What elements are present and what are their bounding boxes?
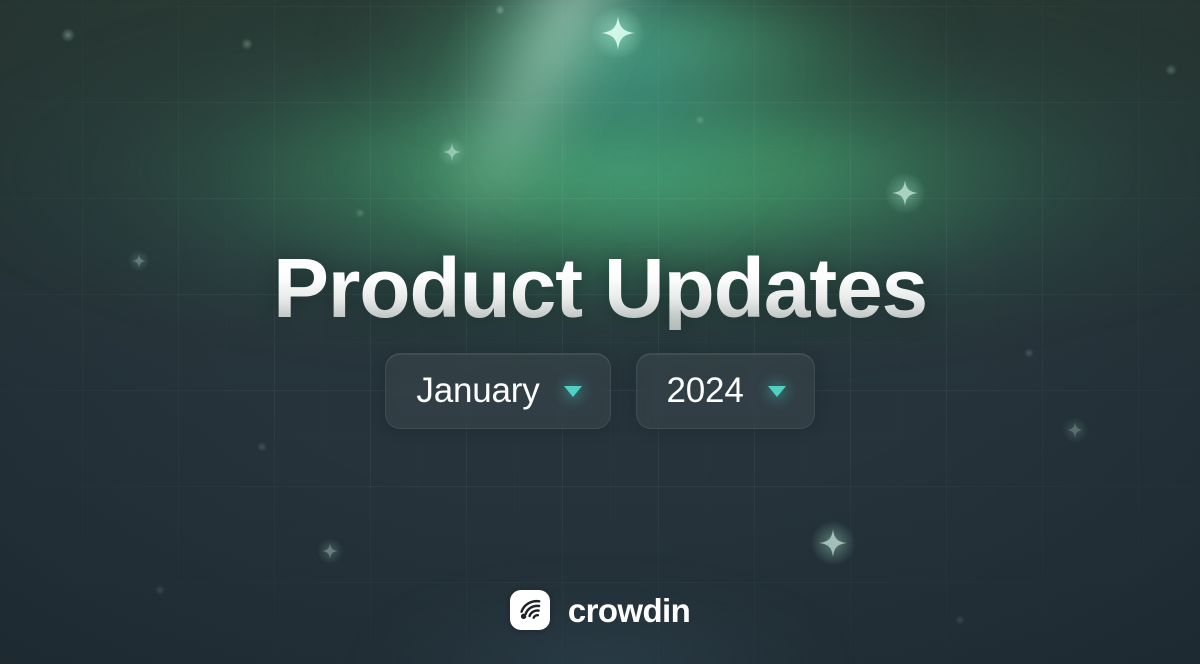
- chevron-down-icon[interactable]: [556, 374, 590, 408]
- crowdin-wordmark: crowdin: [568, 594, 690, 627]
- crowdin-brand: crowdin: [0, 590, 1200, 630]
- chevron-down-triangle: [768, 386, 786, 397]
- chevron-down-icon[interactable]: [760, 374, 794, 408]
- product-updates-hero: Product Updates January 2024: [0, 0, 1200, 664]
- month-selector[interactable]: January: [385, 353, 610, 429]
- crowdin-logo-icon: [510, 590, 550, 630]
- period-selectors: January 2024: [0, 353, 1200, 429]
- year-selector[interactable]: 2024: [636, 353, 815, 429]
- month-selector-value: January: [416, 371, 539, 411]
- hero-content: Product Updates January 2024: [0, 0, 1200, 664]
- chevron-down-triangle: [564, 386, 582, 397]
- year-selector-value: 2024: [667, 371, 744, 411]
- page-title: Product Updates: [0, 246, 1200, 330]
